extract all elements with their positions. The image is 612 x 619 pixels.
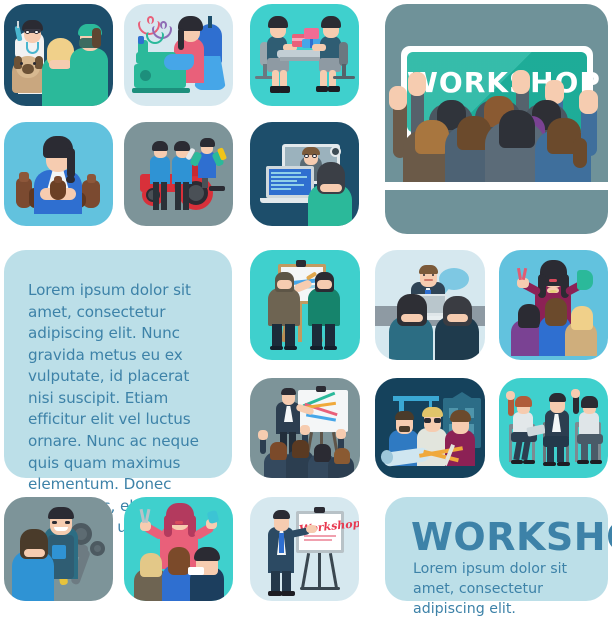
tile-architects[interactable] xyxy=(375,378,485,478)
workshop-caption-subtitle: Lorem ipsum dolor sit amet, consectetur … xyxy=(413,559,593,619)
workshop-caption-panel: WORKSHOP Lorem ipsum dolor sit amet, con… xyxy=(385,497,608,601)
tile-chart-lecture[interactable] xyxy=(250,378,360,478)
tile-hair-salon[interactable] xyxy=(499,250,608,360)
chart-lecture-scene xyxy=(250,378,360,478)
sewing-scene xyxy=(124,4,233,106)
hair-salon-scene xyxy=(499,250,608,360)
tile-office-meeting[interactable] xyxy=(250,4,359,106)
tile-flipchart-speaker[interactable]: Workshop xyxy=(250,497,359,601)
tile-laptop-speaker[interactable] xyxy=(375,250,485,360)
architects-scene xyxy=(375,378,485,478)
lorem-panel: Lorem ipsum dolor sit amet, consectetur … xyxy=(4,250,232,478)
tile-seminar-chairs[interactable] xyxy=(499,378,608,478)
tile-beauty-class[interactable] xyxy=(124,497,233,601)
tile-veterinary[interactable] xyxy=(4,4,113,106)
tile-painting-class[interactable] xyxy=(250,250,360,360)
workshop-caption-title: WORKSHOP xyxy=(411,515,612,559)
tile-pottery[interactable] xyxy=(4,122,113,226)
pottery-scene xyxy=(4,122,113,226)
workshop-banner-scene: WORKSHOP xyxy=(385,4,608,234)
painting-class-scene xyxy=(250,250,360,360)
laptop-speaker-scene xyxy=(375,250,485,360)
office-meeting-scene xyxy=(250,4,359,106)
seminar-chairs-scene xyxy=(499,378,608,478)
mechanics-scene xyxy=(124,122,233,226)
tile-sewing[interactable] xyxy=(124,4,233,106)
tile-auto-repair[interactable] xyxy=(4,497,113,601)
webinar-scene xyxy=(250,122,359,226)
tile-webinar[interactable] xyxy=(250,122,359,226)
veterinary-scene xyxy=(4,4,113,106)
auto-repair-scene xyxy=(4,497,113,601)
tile-mechanics[interactable] xyxy=(124,122,233,226)
beauty-class-scene xyxy=(124,497,233,601)
flipchart-speaker-scene: Workshop xyxy=(250,497,359,601)
tile-workshop-banner[interactable]: WORKSHOP xyxy=(385,4,608,234)
